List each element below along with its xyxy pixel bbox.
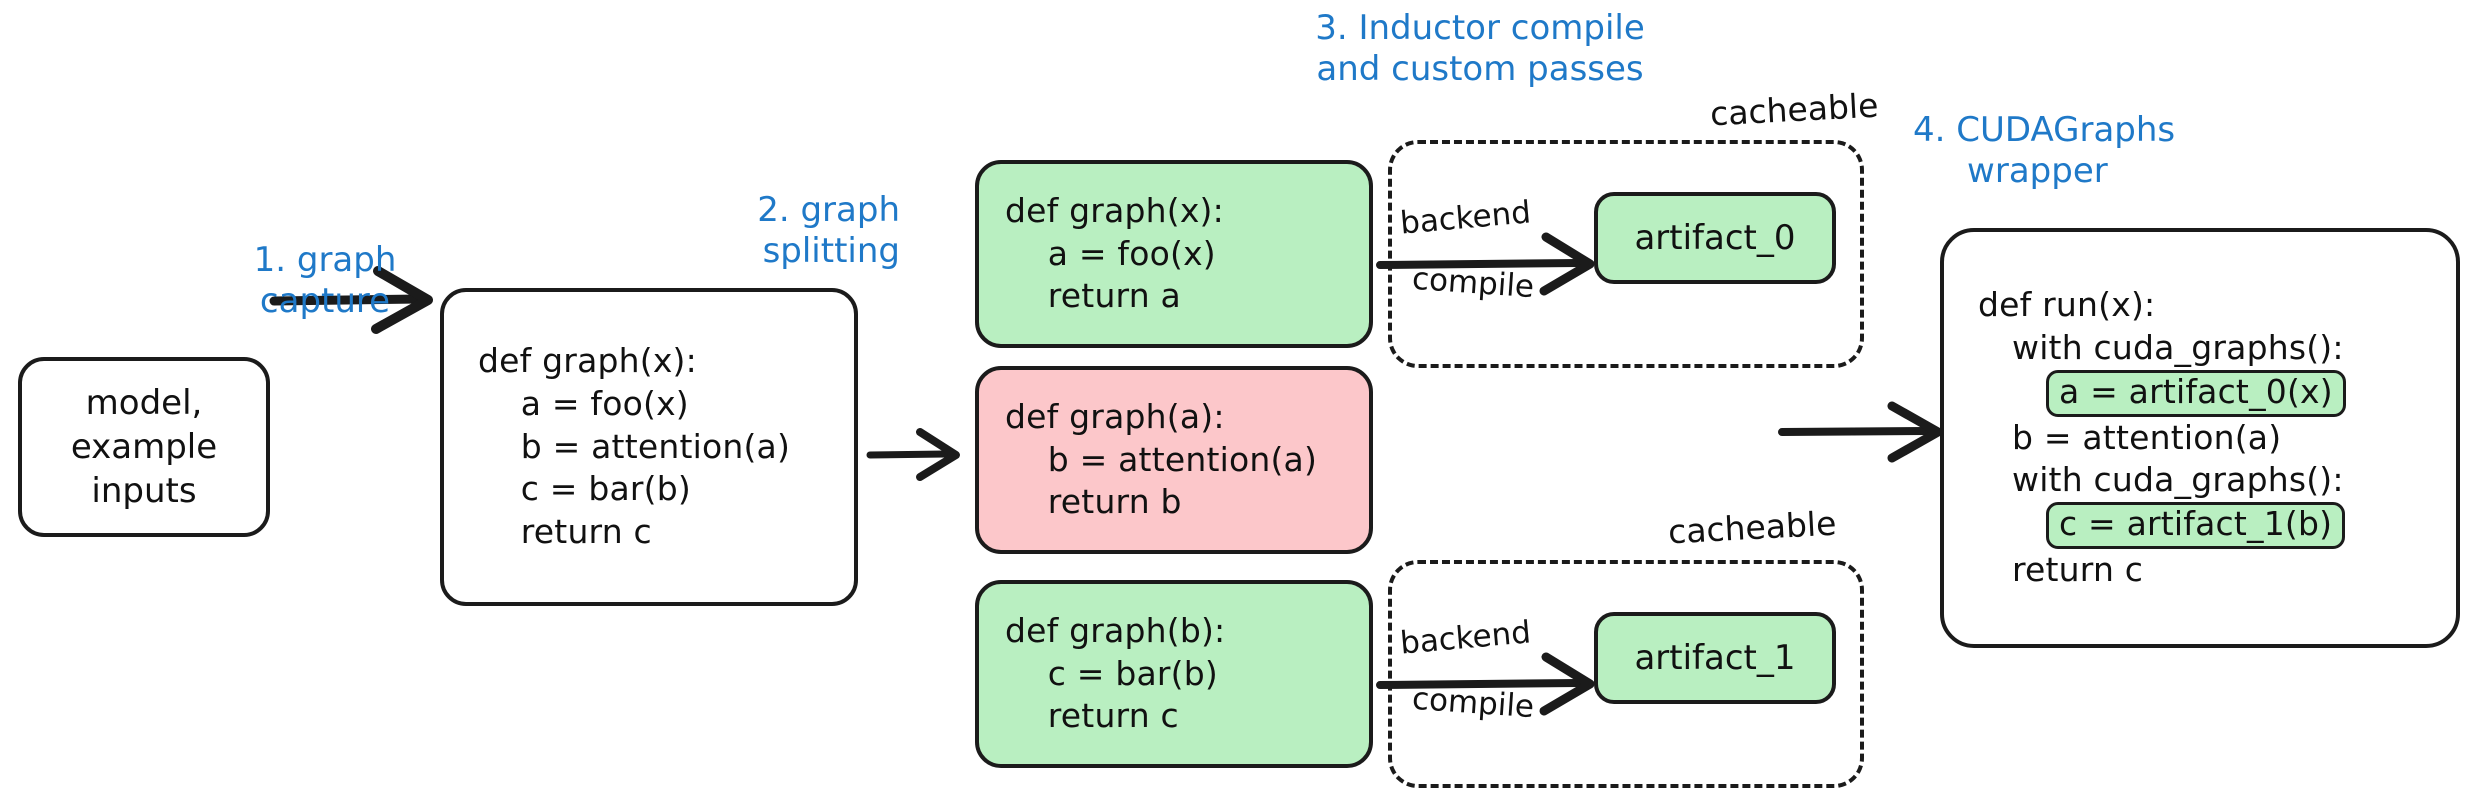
- step-label-3: 3. Inductor compile and custom passes: [1180, 8, 1780, 91]
- code-line: c = bar(b): [1005, 653, 1369, 696]
- code-line: with cuda_graphs():: [1978, 327, 2456, 370]
- code-line: b = attention(a): [1978, 417, 2456, 460]
- code-line: a = foo(x): [1005, 233, 1369, 276]
- code-line: def graph(x):: [478, 340, 854, 383]
- subgraph-0-code: def graph(x): a = foo(x) return a: [1005, 190, 1369, 319]
- captured-graph-node[interactable]: def graph(x): a = foo(x) b = attention(a…: [440, 288, 858, 606]
- cacheable-label-top: cacheable: [1709, 86, 1879, 134]
- input-node[interactable]: model, example inputs: [18, 357, 270, 537]
- code-line: return c: [1978, 549, 2456, 592]
- code-line: c = bar(b): [478, 468, 854, 511]
- cudagraphs-wrapper-code: def run(x):with cuda_graphs():a = artifa…: [1978, 284, 2456, 592]
- step-label-2: 2. graph splitting: [700, 190, 900, 273]
- highlighted-code-line: a = artifact_0(x): [1978, 370, 2456, 417]
- artifact-1-node[interactable]: artifact_1: [1594, 612, 1836, 704]
- captured-graph-code: def graph(x): a = foo(x) b = attention(a…: [478, 340, 854, 554]
- artifact-call-highlight: c = artifact_1(b): [2046, 502, 2345, 549]
- code-line: return a: [1005, 275, 1369, 318]
- code-line: b = attention(a): [1005, 439, 1369, 482]
- code-line: return c: [478, 511, 854, 554]
- highlighted-code-line: c = artifact_1(b): [1978, 502, 2456, 549]
- diagram-canvas: 1. graph capture 2. graph splitting 3. I…: [0, 0, 2474, 794]
- artifact-0-label: artifact_0: [1598, 216, 1832, 260]
- code-line: def run(x):: [1978, 284, 2456, 327]
- step-label-4: 4. CUDAGraphs wrapper: [1913, 110, 2413, 193]
- subgraph-0-node[interactable]: def graph(x): a = foo(x) return a: [975, 160, 1373, 348]
- code-line: return c: [1005, 695, 1369, 738]
- code-line: def graph(b):: [1005, 610, 1369, 653]
- subgraph-1-node[interactable]: def graph(b): c = bar(b) return c: [975, 580, 1373, 768]
- step-label-1: 1. graph capture: [225, 240, 425, 323]
- code-line: return b: [1005, 481, 1369, 524]
- input-node-label: model, example inputs: [22, 381, 266, 514]
- subgraph-attention-code: def graph(a): b = attention(a) return b: [1005, 396, 1369, 525]
- artifact-1-label: artifact_1: [1598, 636, 1832, 680]
- code-line: def graph(x):: [1005, 190, 1369, 233]
- subgraph-1-code: def graph(b): c = bar(b) return c: [1005, 610, 1369, 739]
- cudagraphs-wrapper-node[interactable]: def run(x):with cuda_graphs():a = artifa…: [1940, 228, 2460, 648]
- code-line: def graph(a):: [1005, 396, 1369, 439]
- code-line: b = attention(a): [478, 426, 854, 469]
- artifact-0-node[interactable]: artifact_0: [1594, 192, 1836, 284]
- artifact-call-highlight: a = artifact_0(x): [2046, 370, 2346, 417]
- code-line: with cuda_graphs():: [1978, 459, 2456, 502]
- subgraph-attention-node[interactable]: def graph(a): b = attention(a) return b: [975, 366, 1373, 554]
- cacheable-label-bottom: cacheable: [1667, 504, 1837, 552]
- code-line: a = foo(x): [478, 383, 854, 426]
